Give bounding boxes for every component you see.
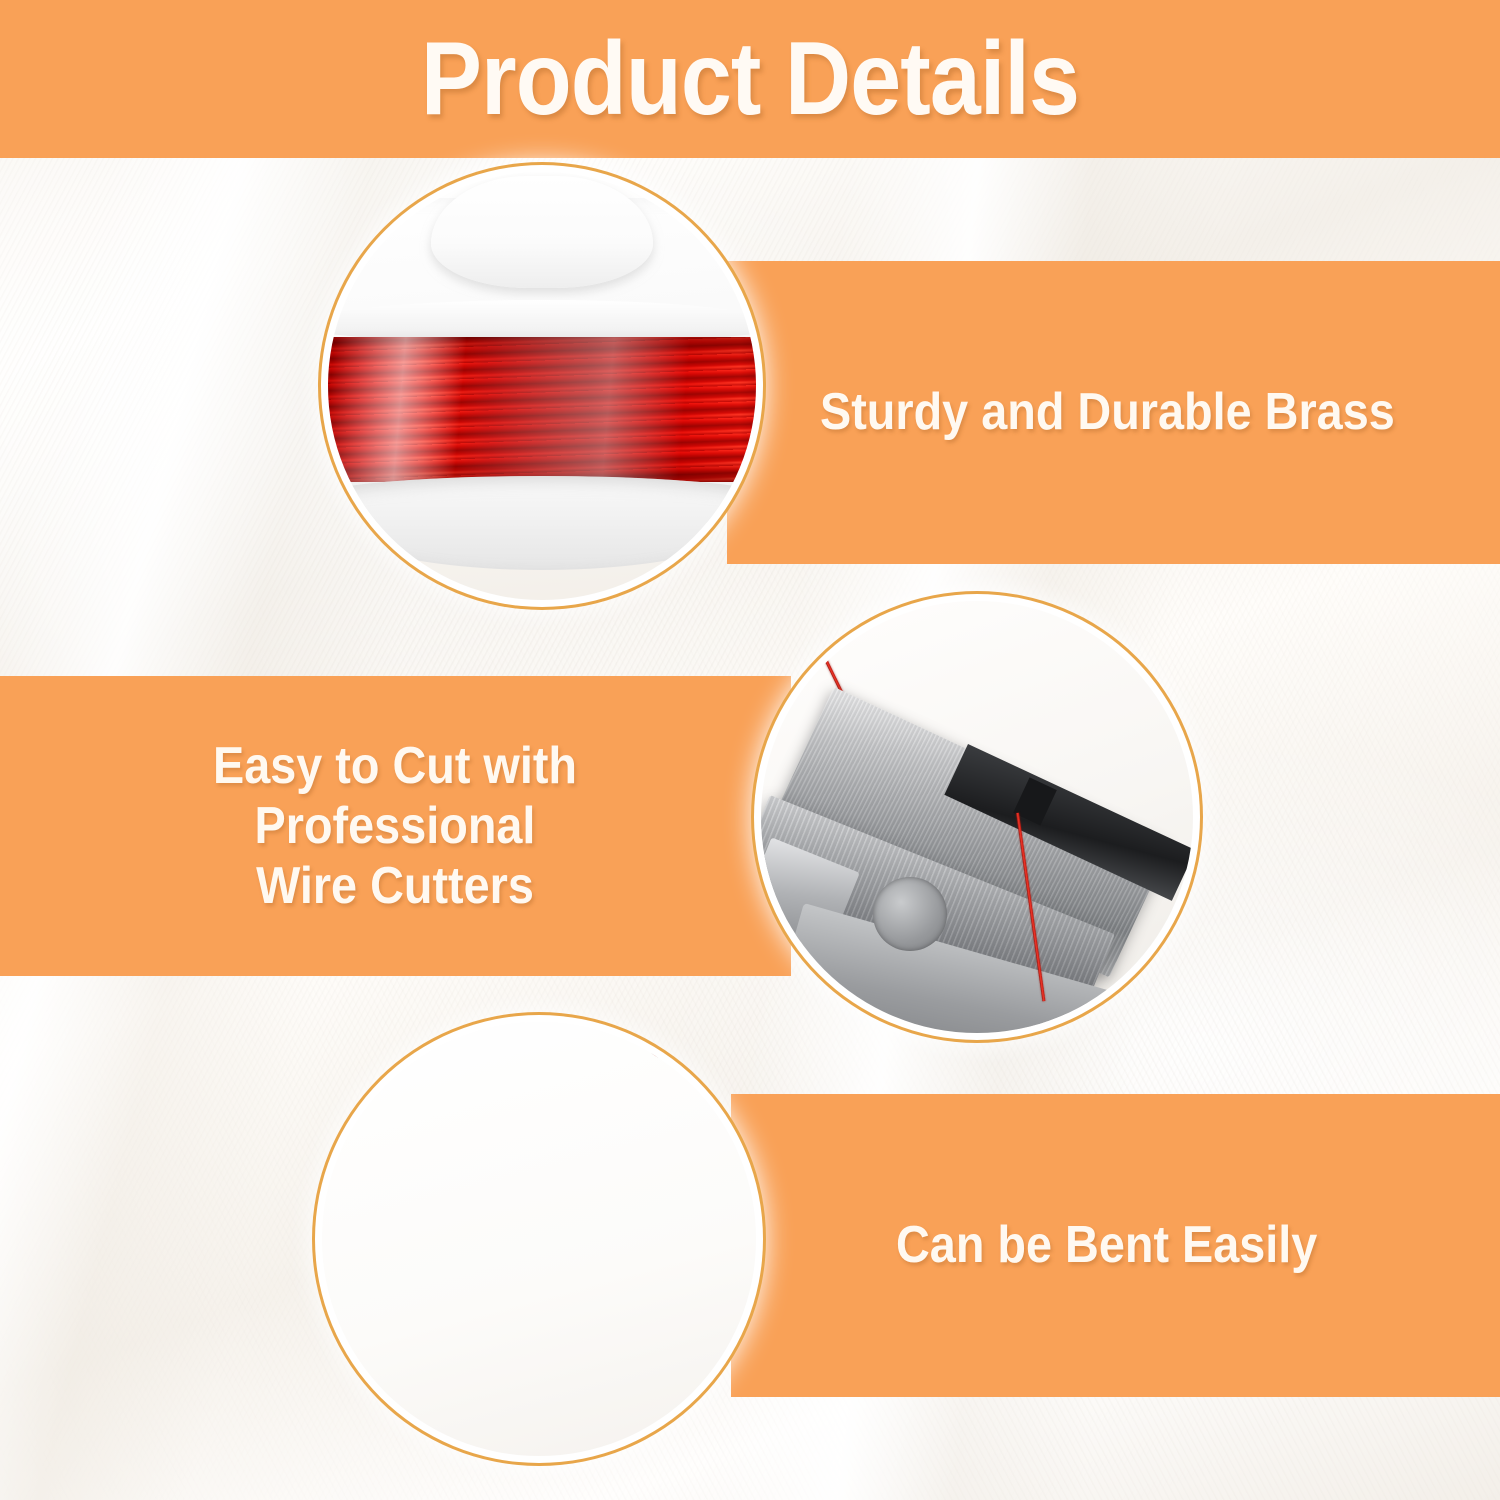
wire-cutter-pliers-photo (761, 601, 1193, 1033)
page-title: Product Details (421, 27, 1079, 131)
product-details-infographic: Product Details Sturdy and Durable Brass… (0, 0, 1500, 1500)
bent-wire-image-content (322, 1022, 756, 1456)
spool-image-content (328, 172, 756, 600)
feature-banner-2: Easy to Cut with Professional Wire Cutte… (0, 676, 791, 976)
feature-banner-3: Can be Bent Easily (731, 1094, 1500, 1397)
bent-red-wire-photo (322, 1022, 756, 1456)
pliers-image-content (761, 601, 1193, 1033)
wire-specular-highlight (328, 337, 756, 483)
red-wire-spool-photo (328, 172, 756, 600)
feature-label-3: Can be Bent Easily (896, 1215, 1317, 1275)
feature-banner-1: Sturdy and Durable Brass (727, 261, 1500, 564)
page-header-band: Product Details (0, 0, 1500, 158)
spool-hub (431, 176, 654, 287)
wound-red-wire (328, 337, 756, 483)
pliers-pivot-rivet (873, 877, 946, 950)
feature-label-1: Sturdy and Durable Brass (820, 382, 1395, 442)
bent-wire-backdrop (322, 1022, 756, 1456)
feature-label-2: Easy to Cut with Professional Wire Cutte… (80, 736, 710, 917)
